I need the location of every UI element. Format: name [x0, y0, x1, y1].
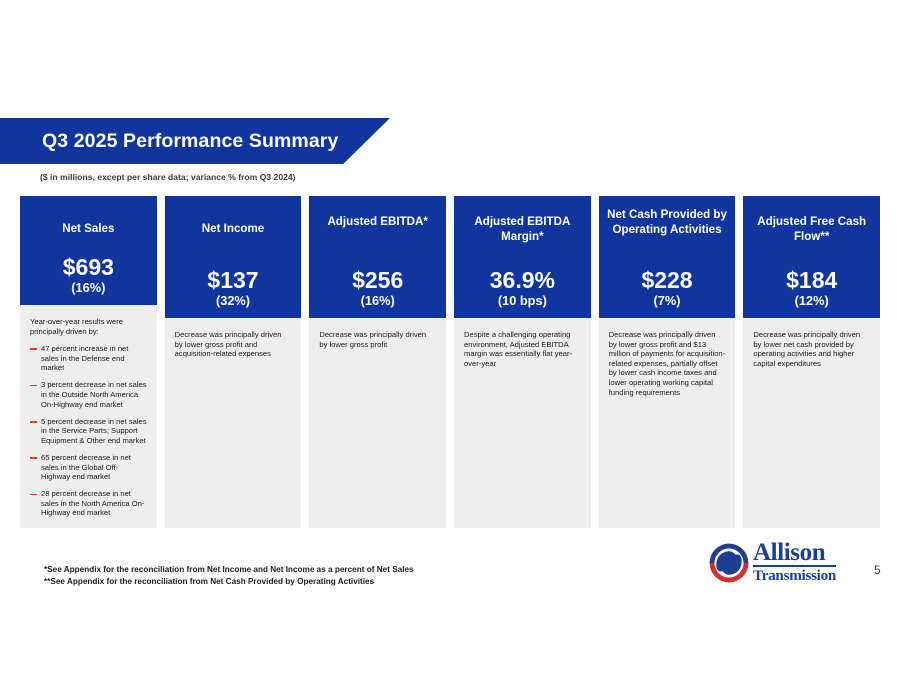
metric-intro-text: Despite a challenging operating environm… [464, 330, 581, 368]
metric-card-header: Adjusted Free Cash Flow** $184 (12%) [743, 196, 880, 318]
metric-value: $137 [207, 268, 258, 293]
metric-card-body: Year-over-year results were principally … [20, 305, 157, 528]
metric-intro-text: Decrease was principally driven by lower… [175, 330, 292, 359]
allison-swirl-icon [708, 542, 750, 584]
metric-label: Net Cash Provided by Operating Activitie… [603, 208, 732, 237]
slide-subtitle: ($ in millions, except per share data; v… [40, 172, 296, 182]
metric-intro-text: Year-over-year results were principally … [30, 317, 147, 336]
metric-label: Adjusted EBITDA Margin* [458, 215, 587, 244]
page-number: 5 [874, 563, 881, 577]
page-title: Q3 2025 Performance Summary [0, 130, 338, 153]
metric-card-net-cash-operating: Net Cash Provided by Operating Activitie… [599, 196, 736, 528]
footnote-line-1: *See Appendix for the reconciliation fro… [44, 564, 414, 576]
metric-card-row: Net Sales $693 (16%) Year-over-year resu… [20, 196, 880, 528]
slide-root: Q3 2025 Performance Summary ($ in millio… [0, 0, 900, 695]
metric-card-header: Net Sales $693 (16%) [20, 196, 157, 305]
metric-card-net-sales: Net Sales $693 (16%) Year-over-year resu… [20, 196, 157, 528]
metric-card-body: Decrease was principally driven by lower… [309, 318, 446, 528]
metric-card-body: Despite a challenging operating environm… [454, 318, 591, 528]
logo-wordmark: Allison Transmission [753, 542, 836, 584]
metric-card-adjusted-free-cash-flow: Adjusted Free Cash Flow** $184 (12%) Dec… [743, 196, 880, 528]
allison-transmission-logo: Allison Transmission [708, 540, 873, 586]
list-item: 47 percent increase in net sales in the … [30, 344, 147, 373]
metric-card-header: Adjusted EBITDA Margin* 36.9% (10 bps) [454, 196, 591, 318]
title-banner: Q3 2025 Performance Summary [0, 118, 390, 164]
metric-change: (16%) [71, 280, 105, 305]
metric-label: Net Sales [62, 222, 114, 237]
metric-card-body: Decrease was principally driven by lower… [599, 318, 736, 528]
metric-card-header: Net Cash Provided by Operating Activitie… [599, 196, 736, 318]
metric-label: Net Income [202, 222, 265, 237]
metric-card-body: Decrease was principally driven by lower… [743, 318, 880, 528]
metric-card-header: Net Income $137 (32%) [165, 196, 302, 318]
list-item: 65 percent decrease in net sales in the … [30, 453, 147, 482]
metric-card-adjusted-ebitda: Adjusted EBITDA* $256 (16%) Decrease was… [309, 196, 446, 528]
metric-bullet-list: 47 percent increase in net sales in the … [30, 344, 147, 518]
metric-card-body: Decrease was principally driven by lower… [165, 318, 302, 528]
metric-intro-text: Decrease was principally driven by lower… [753, 330, 870, 368]
metric-value: $228 [641, 268, 692, 293]
metric-change: (16%) [361, 293, 395, 318]
metric-value: $693 [63, 255, 114, 280]
metric-value: $184 [786, 268, 837, 293]
list-item: 28 percent decrease in net sales in the … [30, 489, 147, 518]
metric-card-header: Adjusted EBITDA* $256 (16%) [309, 196, 446, 318]
footnotes: *See Appendix for the reconciliation fro… [44, 564, 414, 587]
footnote-line-2: **See Appendix for the reconciliation fr… [44, 576, 414, 588]
metric-change: (7%) [654, 293, 681, 318]
metric-card-adjusted-ebitda-margin: Adjusted EBITDA Margin* 36.9% (10 bps) D… [454, 196, 591, 528]
metric-label: Adjusted EBITDA* [327, 215, 427, 230]
metric-label: Adjusted Free Cash Flow** [747, 215, 876, 244]
metric-card-net-income: Net Income $137 (32%) Decrease was princ… [165, 196, 302, 528]
metric-change: (10 bps) [498, 293, 547, 318]
metric-value: 36.9% [490, 268, 555, 293]
logo-name-bottom: Transmission [753, 568, 836, 584]
list-item: 5 percent decrease in net sales in the S… [30, 417, 147, 446]
metric-intro-text: Decrease was principally driven by lower… [609, 330, 726, 397]
metric-value: $256 [352, 268, 403, 293]
list-item: 3 percent decrease in net sales in the O… [30, 380, 147, 409]
metric-change: (12%) [795, 293, 829, 318]
metric-intro-text: Decrease was principally driven by lower… [319, 330, 436, 349]
metric-change: (32%) [216, 293, 250, 318]
logo-name-top: Allison [753, 542, 836, 567]
